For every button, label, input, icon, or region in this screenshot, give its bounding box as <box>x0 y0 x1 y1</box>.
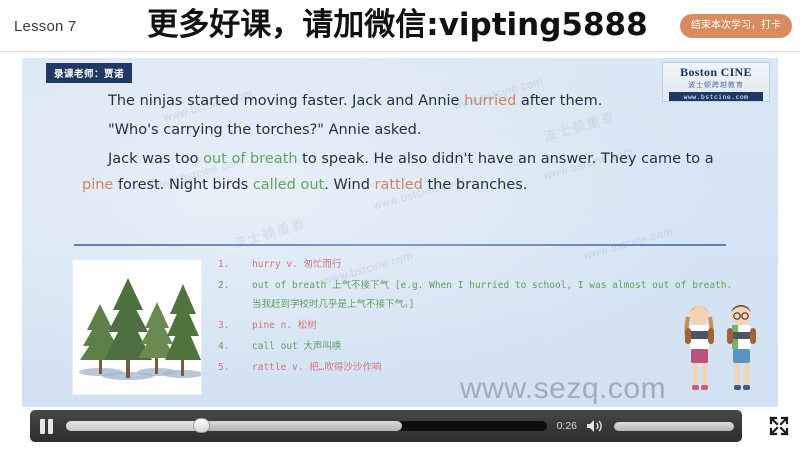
vocabulary-number: 1. <box>218 255 252 274</box>
pause-icon <box>40 419 53 434</box>
volume-fill <box>614 422 734 431</box>
finish-study-checkin-button[interactable]: 结束本次学习，打卡 <box>680 14 792 38</box>
story-run: "Who's carrying the torches?" Annie aske… <box>108 122 422 138</box>
pine-trees-image <box>72 259 202 395</box>
volume-slider[interactable] <box>614 422 734 431</box>
story-run: the branches. <box>423 177 528 193</box>
vocabulary-item: 3.pine n. 松树 <box>218 316 738 335</box>
vocabulary-number: 5. <box>218 358 252 377</box>
volume-button[interactable] <box>584 415 606 437</box>
story-text-block: The ninjas started moving faster. Jack a… <box>82 88 722 201</box>
vocabulary-list: 1.hurry v. 匆忙而行2.out of breath 上气不接下气 [e… <box>218 255 738 379</box>
video-player-controls: 0:26 <box>30 410 742 442</box>
story-paragraph-3: Jack was too out of breath to speak. He … <box>82 146 722 198</box>
pine-trees-icon <box>73 260 201 394</box>
promo-banner-text: 更多好课，请加微信:vipting5888 <box>135 2 660 48</box>
video-lesson-player: Lesson 7 更多好课，请加微信:vipting5888 结束本次学习，打卡… <box>0 0 800 450</box>
story-run: after them. <box>516 93 602 109</box>
current-time-label: 0:26 <box>557 420 577 432</box>
story-run: . Wind <box>324 177 374 193</box>
fullscreen-button[interactable] <box>764 412 794 440</box>
kids-illustration <box>666 301 770 401</box>
fullscreen-icon <box>768 415 790 437</box>
pause-button[interactable] <box>30 410 62 442</box>
vocabulary-number: 4. <box>218 337 252 356</box>
top-header-bar: Lesson 7 更多好课，请加微信:vipting5888 结束本次学习，打卡 <box>0 0 800 52</box>
vocabulary-number: 2. <box>218 276 252 295</box>
progress-handle[interactable] <box>193 418 210 433</box>
story-run: Jack was too <box>108 151 203 167</box>
story-run: forest. Night birds <box>113 177 252 193</box>
story-run: The ninjas started moving faster. Jack a… <box>108 93 464 109</box>
watermark-chinese: 波士顿重恩 <box>231 213 308 252</box>
highlight-word-green: out of breath <box>203 151 297 167</box>
story-paragraph-1: The ninjas started moving faster. Jack a… <box>82 88 722 114</box>
volume-icon <box>586 418 604 434</box>
progress-played <box>66 421 201 431</box>
vocabulary-item: 4.call out 大声叫唤 <box>218 337 738 356</box>
highlight-word-orange: hurried <box>464 93 516 109</box>
highlight-word-orange: pine <box>82 177 113 193</box>
vocabulary-item: 2.out of breath 上气不接下气 [e.g. When I hurr… <box>218 276 738 314</box>
logo-brand-text: Boston CINE <box>663 65 769 80</box>
vocabulary-item: 5.rattle v. 把…吹得沙沙作响 <box>218 358 738 377</box>
highlight-word-green: called out <box>253 177 324 193</box>
progress-bar[interactable] <box>66 421 547 431</box>
highlight-word-orange: rattled <box>375 177 423 193</box>
vocabulary-item: 1.hurry v. 匆忙而行 <box>218 255 738 274</box>
teacher-name-tag: 录课老师：贾诺 <box>46 63 132 83</box>
vocabulary-number: 3. <box>218 316 252 335</box>
story-paragraph-2: "Who's carrying the torches?" Annie aske… <box>82 117 722 143</box>
two-children-icon <box>666 301 770 401</box>
page-title: Lesson 7 <box>14 18 76 35</box>
lesson-slide: 录课老师：贾诺 Boston CINE 波士顿跨越教育 www.bstcine.… <box>22 58 778 407</box>
story-run: to speak. He also didn't have an answer.… <box>298 151 714 167</box>
section-divider <box>74 244 726 246</box>
vocabulary-text: hurry v. 匆忙而行 <box>252 255 738 274</box>
